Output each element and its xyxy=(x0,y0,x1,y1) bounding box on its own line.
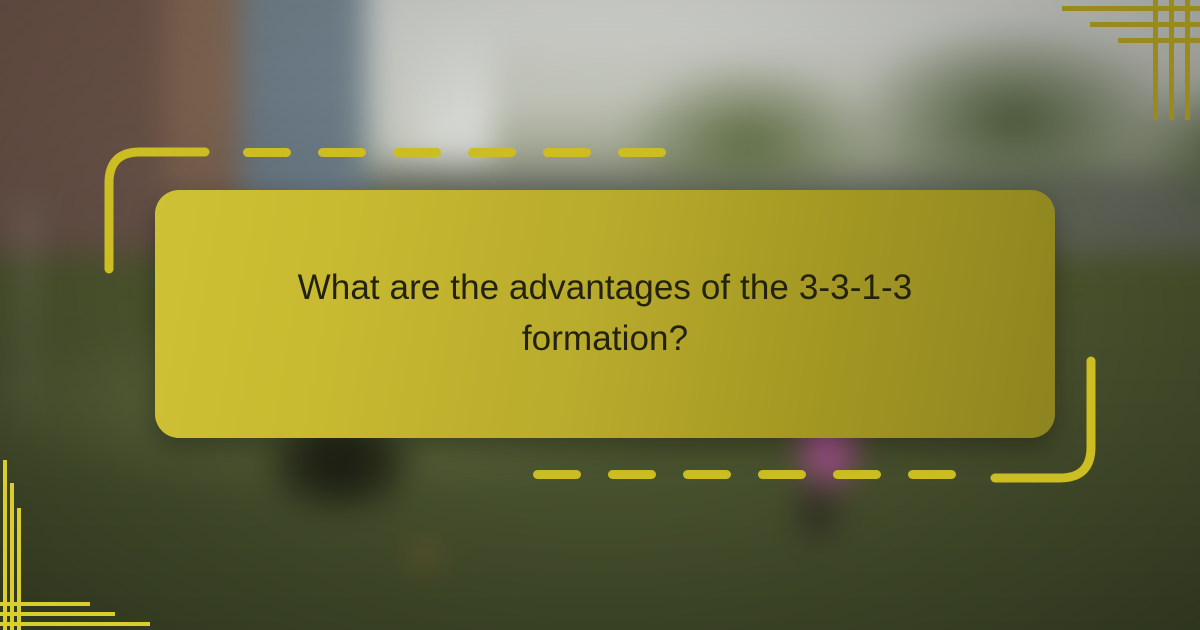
poster-canvas: What are the advantages of the 3-3-1-3 f… xyxy=(0,0,1200,630)
dash-segment xyxy=(758,470,806,479)
question-title: What are the advantages of the 3-3-1-3 f… xyxy=(225,263,985,365)
bottom-left-corner-ornament xyxy=(0,440,160,630)
dash-segment xyxy=(533,470,581,479)
dash-segment xyxy=(543,148,591,157)
dash-segment xyxy=(318,148,366,157)
dash-segment xyxy=(393,148,441,157)
question-card: What are the advantages of the 3-3-1-3 f… xyxy=(155,190,1055,438)
dash-segment xyxy=(243,148,291,157)
top-right-corner-ornament xyxy=(1040,0,1200,120)
dash-segment xyxy=(833,470,881,479)
dash-segment xyxy=(683,470,731,479)
dash-segment xyxy=(618,148,666,157)
bottom-dashed-rule xyxy=(533,470,956,479)
dash-segment xyxy=(468,148,516,157)
top-dashed-rule xyxy=(243,148,666,157)
dash-segment xyxy=(608,470,656,479)
dash-segment xyxy=(908,470,956,479)
